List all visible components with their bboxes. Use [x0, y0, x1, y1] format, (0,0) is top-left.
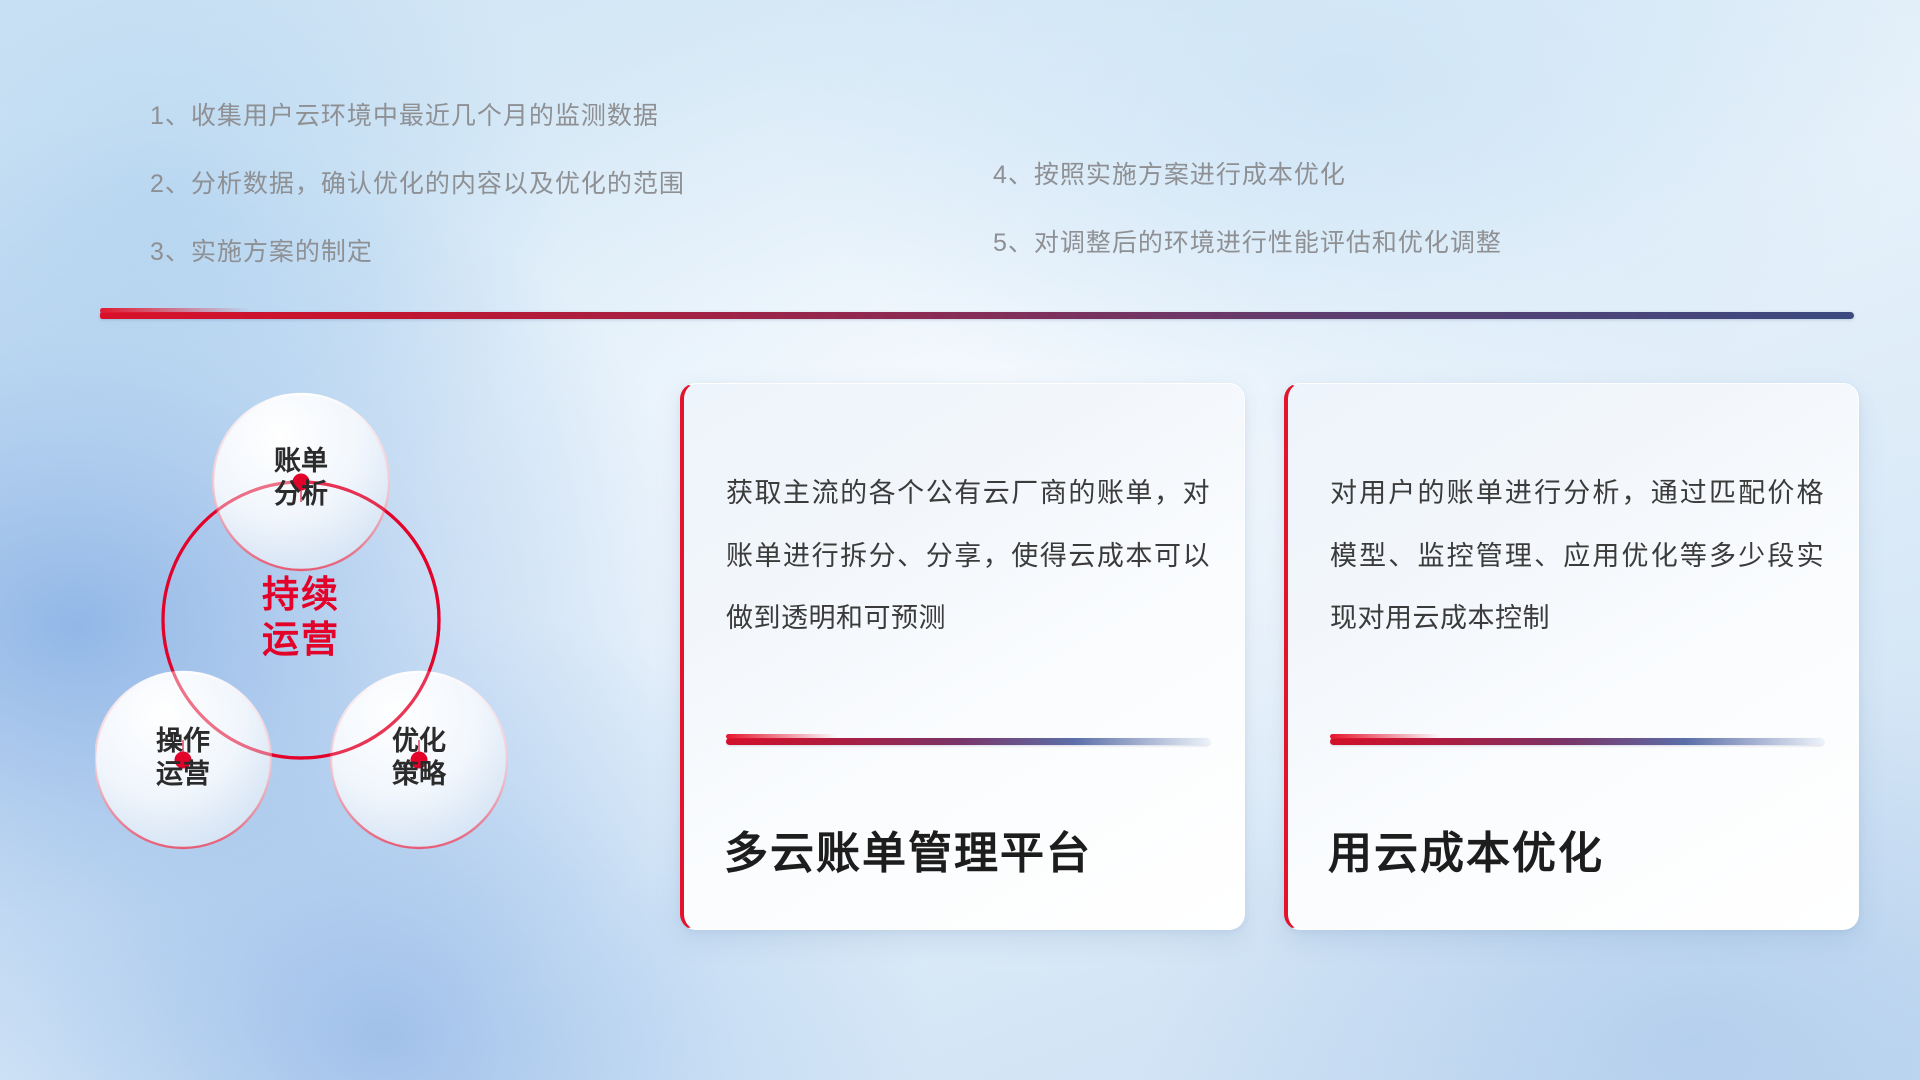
slide-canvas: 1、收集用户云环境中最近几个月的监测数据 2、分析数据，确认优化的内容以及优化的…	[0, 0, 1920, 1080]
step-item: 3、实施方案的制定	[150, 232, 685, 268]
venn-label-bottom-right: 优化 策略	[359, 725, 479, 791]
steps-right-column: 4、按照实施方案进行成本优化 5、对调整后的环境进行性能评估和优化调整	[993, 155, 1502, 291]
card-divider-rule	[1330, 738, 1824, 745]
venn-label-bottom-left: 操作 运营	[123, 725, 243, 791]
card-divider-rule	[726, 738, 1210, 745]
step-item: 1、收集用户云环境中最近几个月的监测数据	[150, 96, 685, 132]
step-item: 4、按照实施方案进行成本优化	[993, 155, 1502, 191]
steps-left-column: 1、收集用户云环境中最近几个月的监测数据 2、分析数据，确认优化的内容以及优化的…	[150, 96, 685, 300]
card-body-text: 对用户的账单进行分析，通过匹配价格模型、监控管理、应用优化等多少段实现对用云成本…	[1330, 462, 1824, 650]
step-item: 2、分析数据，确认优化的内容以及优化的范围	[150, 164, 685, 200]
card-title: 用云成本优化	[1328, 817, 1604, 881]
venn-label-top: 账单 分析	[241, 445, 361, 511]
card-body-text: 获取主流的各个公有云厂商的账单，对账单进行拆分、分享，使得云成本可以做到透明和可…	[726, 462, 1210, 650]
venn-label-center: 持续 运营	[241, 572, 361, 662]
info-card-cloud-cost-optimization[interactable]: 对用户的账单进行分析，通过匹配价格模型、监控管理、应用优化等多少段实现对用云成本…	[1284, 383, 1859, 930]
step-item: 5、对调整后的环境进行性能评估和优化调整	[993, 223, 1502, 259]
card-title: 多云账单管理平台	[724, 817, 1092, 881]
info-card-multicloud-billing[interactable]: 获取主流的各个公有云厂商的账单，对账单进行拆分、分享，使得云成本可以做到透明和可…	[680, 383, 1245, 930]
venn-diagram: 账单 分析 持续 运营 操作 运营 优化 策略	[95, 350, 615, 950]
section-divider-rule	[100, 312, 1854, 319]
